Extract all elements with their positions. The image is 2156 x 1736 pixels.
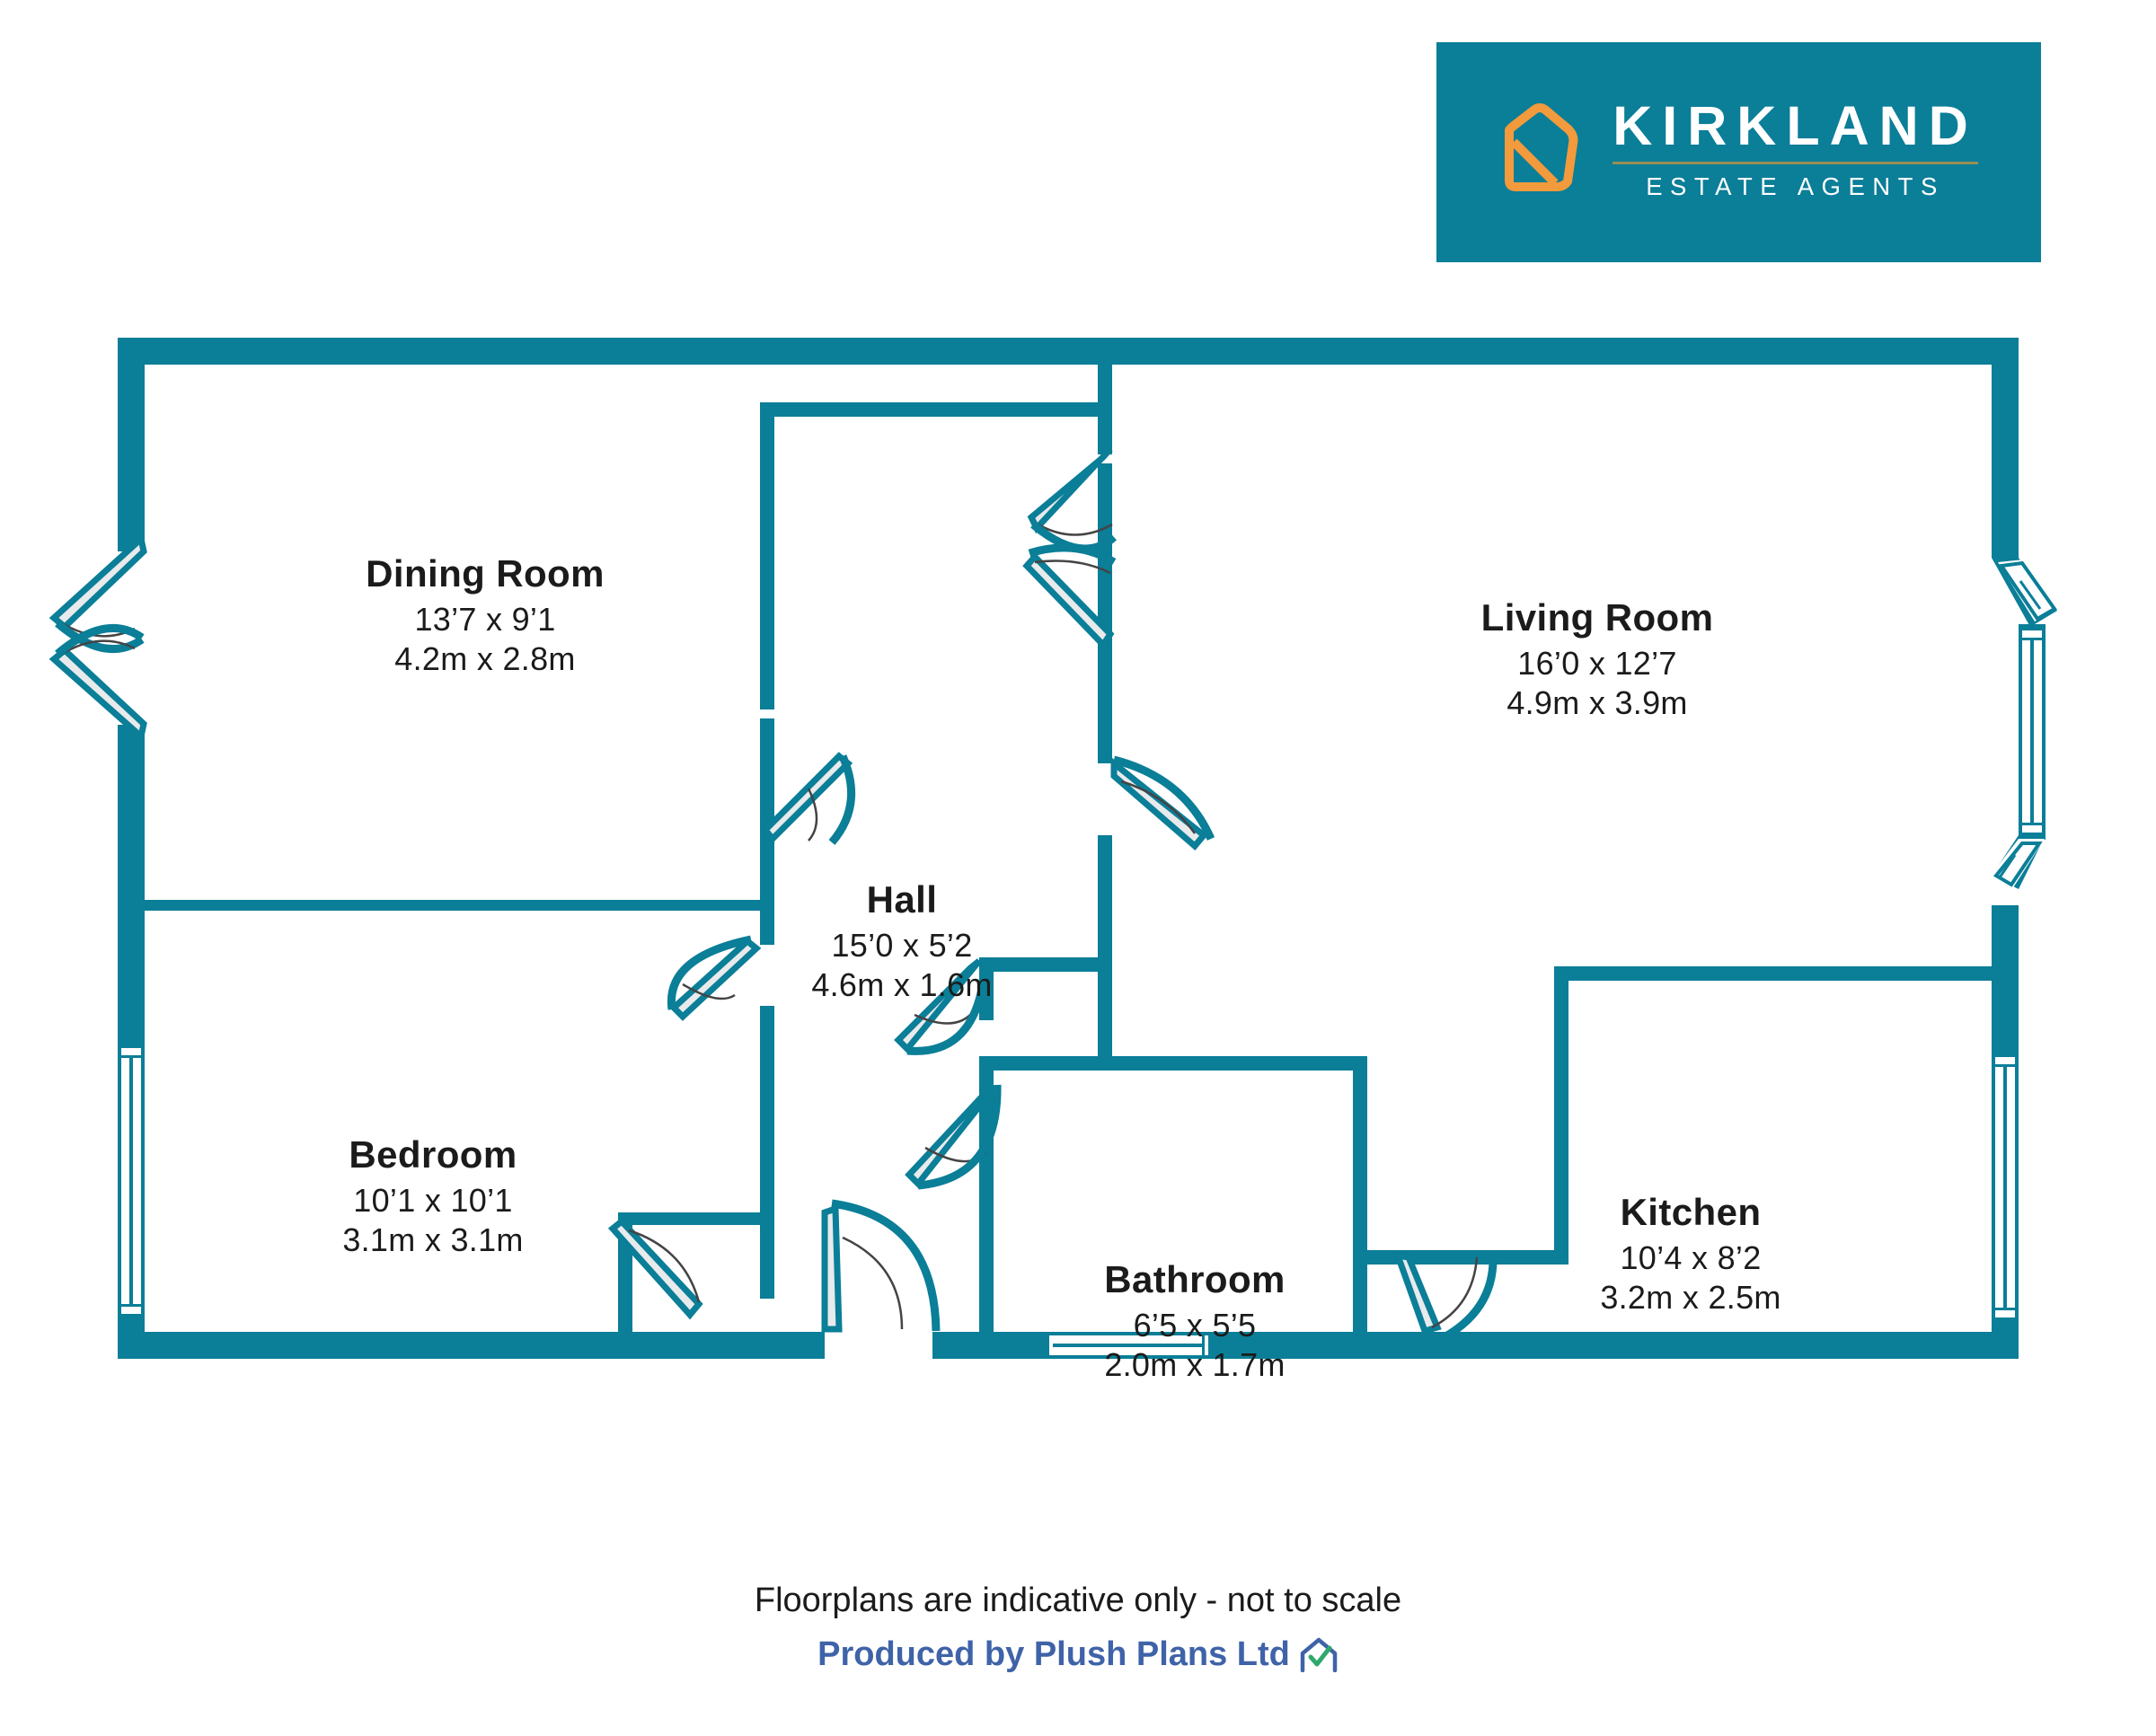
room-name: Bedroom [342, 1132, 523, 1176]
window-kitchen-right [1992, 1053, 2019, 1322]
door-hall-bedroom [671, 939, 756, 1017]
room-size-imperial: 15’0 x 5’2 [811, 927, 992, 965]
door-hall-rear [825, 1203, 936, 1331]
room-label-bedroom: Bedroom 10’1 x 10’1 3.1m x 3.1m [342, 1132, 523, 1259]
plush-plans-house-check-icon [1299, 1636, 1339, 1672]
footer-disclaimer: Floorplans are indicative only - not to … [0, 1581, 2156, 1622]
room-name: Dining Room [366, 551, 605, 595]
room-size-metric: 4.2m x 2.8m [366, 640, 605, 678]
door-hall-living [1114, 760, 1211, 846]
room-name: Kitchen [1600, 1190, 1780, 1234]
brand-divider [1613, 162, 1978, 164]
room-label-hall: Hall 15’0 x 5’2 4.6m x 1.6m [811, 877, 992, 1004]
footer-credit-text: Produced by Plush Plans Ltd [817, 1635, 1290, 1676]
kirkland-house-logo-icon [1499, 103, 1582, 195]
room-size-imperial: 6’5 x 5’5 [1104, 1307, 1286, 1344]
footer-credit: Produced by Plush Plans Ltd [817, 1635, 1339, 1676]
brand-header-bar: KIRKLAND ESTATE AGENTS [1436, 42, 2041, 262]
brand-wordmark: KIRKLAND ESTATE AGENTS [1613, 99, 1978, 199]
floor-plan-drawing [0, 296, 2156, 1572]
floor-plan [0, 296, 2156, 1572]
room-size-metric: 3.2m x 2.5m [1600, 1279, 1780, 1317]
room-label-kitchen: Kitchen 10’4 x 8’2 3.2m x 2.5m [1600, 1190, 1780, 1317]
room-label-dining-room: Dining Room 13’7 x 9’1 4.2m x 2.8m [366, 551, 605, 678]
room-size-imperial: 10’4 x 8’2 [1600, 1239, 1780, 1277]
window-living-bay-centre [2019, 626, 2046, 837]
room-label-bathroom: Bathroom 6’5 x 5’5 2.0m x 1.7m [1104, 1257, 1286, 1384]
room-size-metric: 4.9m x 3.9m [1481, 684, 1714, 722]
floorplan-footer: Floorplans are indicative only - not to … [0, 1581, 2156, 1675]
brand-lockup: KIRKLAND ESTATE AGENTS [1499, 99, 1978, 199]
room-size-imperial: 16’0 x 12’7 [1481, 645, 1714, 683]
room-name: Living Room [1481, 595, 1714, 639]
door-living-kitchen [1398, 1256, 1493, 1342]
door-hall-west [765, 756, 852, 842]
room-size-metric: 4.6m x 1.6m [811, 966, 992, 1004]
room-size-imperial: 10’1 x 10’1 [342, 1182, 523, 1220]
room-label-living-room: Living Room 16’0 x 12’7 4.9m x 3.9m [1481, 595, 1714, 722]
room-size-imperial: 13’7 x 9’1 [366, 601, 605, 639]
room-name: Bathroom [1104, 1257, 1286, 1301]
room-size-metric: 3.1m x 3.1m [342, 1221, 523, 1259]
window-bedroom-left [118, 1044, 145, 1318]
room-name: Hall [811, 877, 992, 921]
brand-tagline: ESTATE AGENTS [1613, 174, 1978, 199]
room-size-metric: 2.0m x 1.7m [1104, 1346, 1286, 1384]
brand-name: KIRKLAND [1613, 99, 1978, 162]
